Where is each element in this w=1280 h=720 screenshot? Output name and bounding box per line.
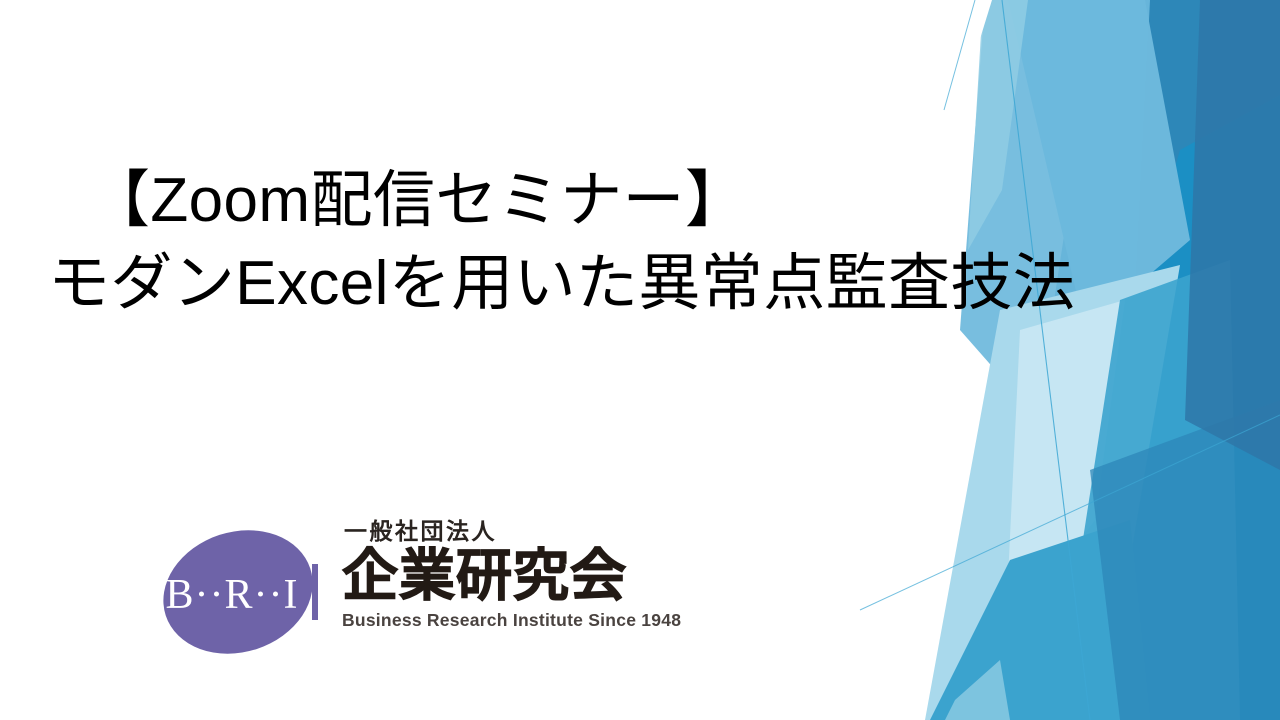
title-line-1: 【Zoom配信セミナー】 (0, 168, 1258, 235)
logo-wordmark: 一般社団法人 企業研究会 Business Research Institute… (342, 520, 722, 670)
decor-shape-light-mid (925, 265, 1180, 720)
decor-hairline-diagonal (860, 415, 1280, 610)
logo-org-name: 企業研究会 (342, 547, 722, 604)
decor-shape-mid-right (1055, 260, 1240, 720)
logo-tagline: Business Research Institute Since 1948 (342, 612, 722, 630)
decor-shape-deep-right (1105, 0, 1280, 720)
decor-shape-pale-bottom (945, 660, 1010, 720)
title-line-2: モダンExcelを用いた異常点監査技法 (0, 251, 1258, 318)
logo-mark-bar (312, 564, 318, 620)
decor-shape-notch (938, 0, 992, 120)
bri-ellipse-mark: B··R··I (160, 516, 335, 668)
logo-org-type: 一般社団法人 (342, 520, 722, 543)
organization-logo: B··R··I 一般社団法人 企業研究会 Business Research I… (160, 516, 720, 676)
title-slide: 【Zoom配信セミナー】 モダンExcelを用いた異常点監査技法 B··R··I… (0, 0, 1280, 720)
decor-shape-steel-mass (1010, 0, 1280, 720)
logo-mark-letters: B··R··I (166, 572, 299, 618)
decor-shape-steel-lower-left (930, 520, 1150, 720)
decor-hairline-steep (1002, 0, 1090, 720)
slide-title: 【Zoom配信セミナー】 モダンExcelを用いた異常点監査技法 (0, 168, 1258, 318)
decor-hairline-short-top (944, 0, 975, 110)
decor-shape-frost (1005, 300, 1125, 640)
decor-shape-bottom-shadow (1090, 400, 1280, 720)
